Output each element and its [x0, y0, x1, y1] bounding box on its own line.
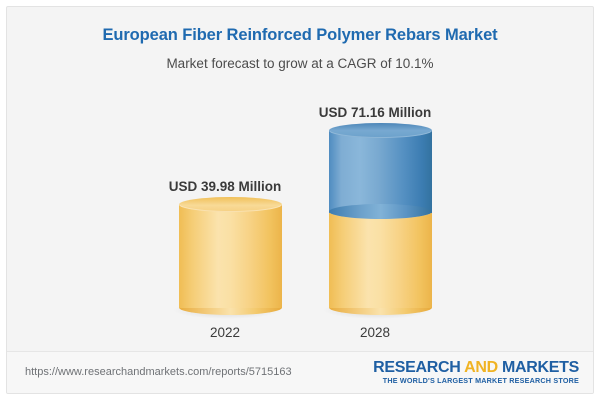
chart-plot-area: USD 39.98 Million 2022 USD 71.16 Million — [7, 7, 594, 352]
cylinder-bottom-cap-growth-2028 — [329, 204, 432, 219]
cylinder-top-cap-2028 — [329, 123, 432, 138]
bar-group-2028[interactable]: USD 71.16 Million 2028 — [265, 7, 485, 352]
bar-cylinder-2028[interactable] — [329, 123, 432, 315]
logo-word-and: AND — [464, 359, 498, 376]
bar-value-label-2028: USD 71.16 Million — [265, 105, 485, 120]
cylinder-body-base-2028 — [329, 211, 432, 308]
chart-card: European Fiber Reinforced Polymer Rebars… — [6, 6, 594, 394]
report-url-link[interactable]: https://www.researchandmarkets.com/repor… — [25, 366, 292, 378]
footer: https://www.researchandmarkets.com/repor… — [7, 352, 594, 394]
research-and-markets-logo[interactable]: RESEARCH AND MARKETS THE WORLD'S LARGEST… — [373, 359, 579, 386]
logo-wordmark: RESEARCH AND MARKETS — [373, 359, 579, 376]
bar-category-label-2028: 2028 — [265, 325, 485, 340]
logo-tagline: THE WORLD'S LARGEST MARKET RESEARCH STOR… — [373, 376, 579, 386]
logo-word-research: RESEARCH — [373, 359, 460, 376]
logo-word-markets: MARKETS — [502, 359, 579, 376]
cylinder-body-growth-2028 — [329, 130, 432, 213]
